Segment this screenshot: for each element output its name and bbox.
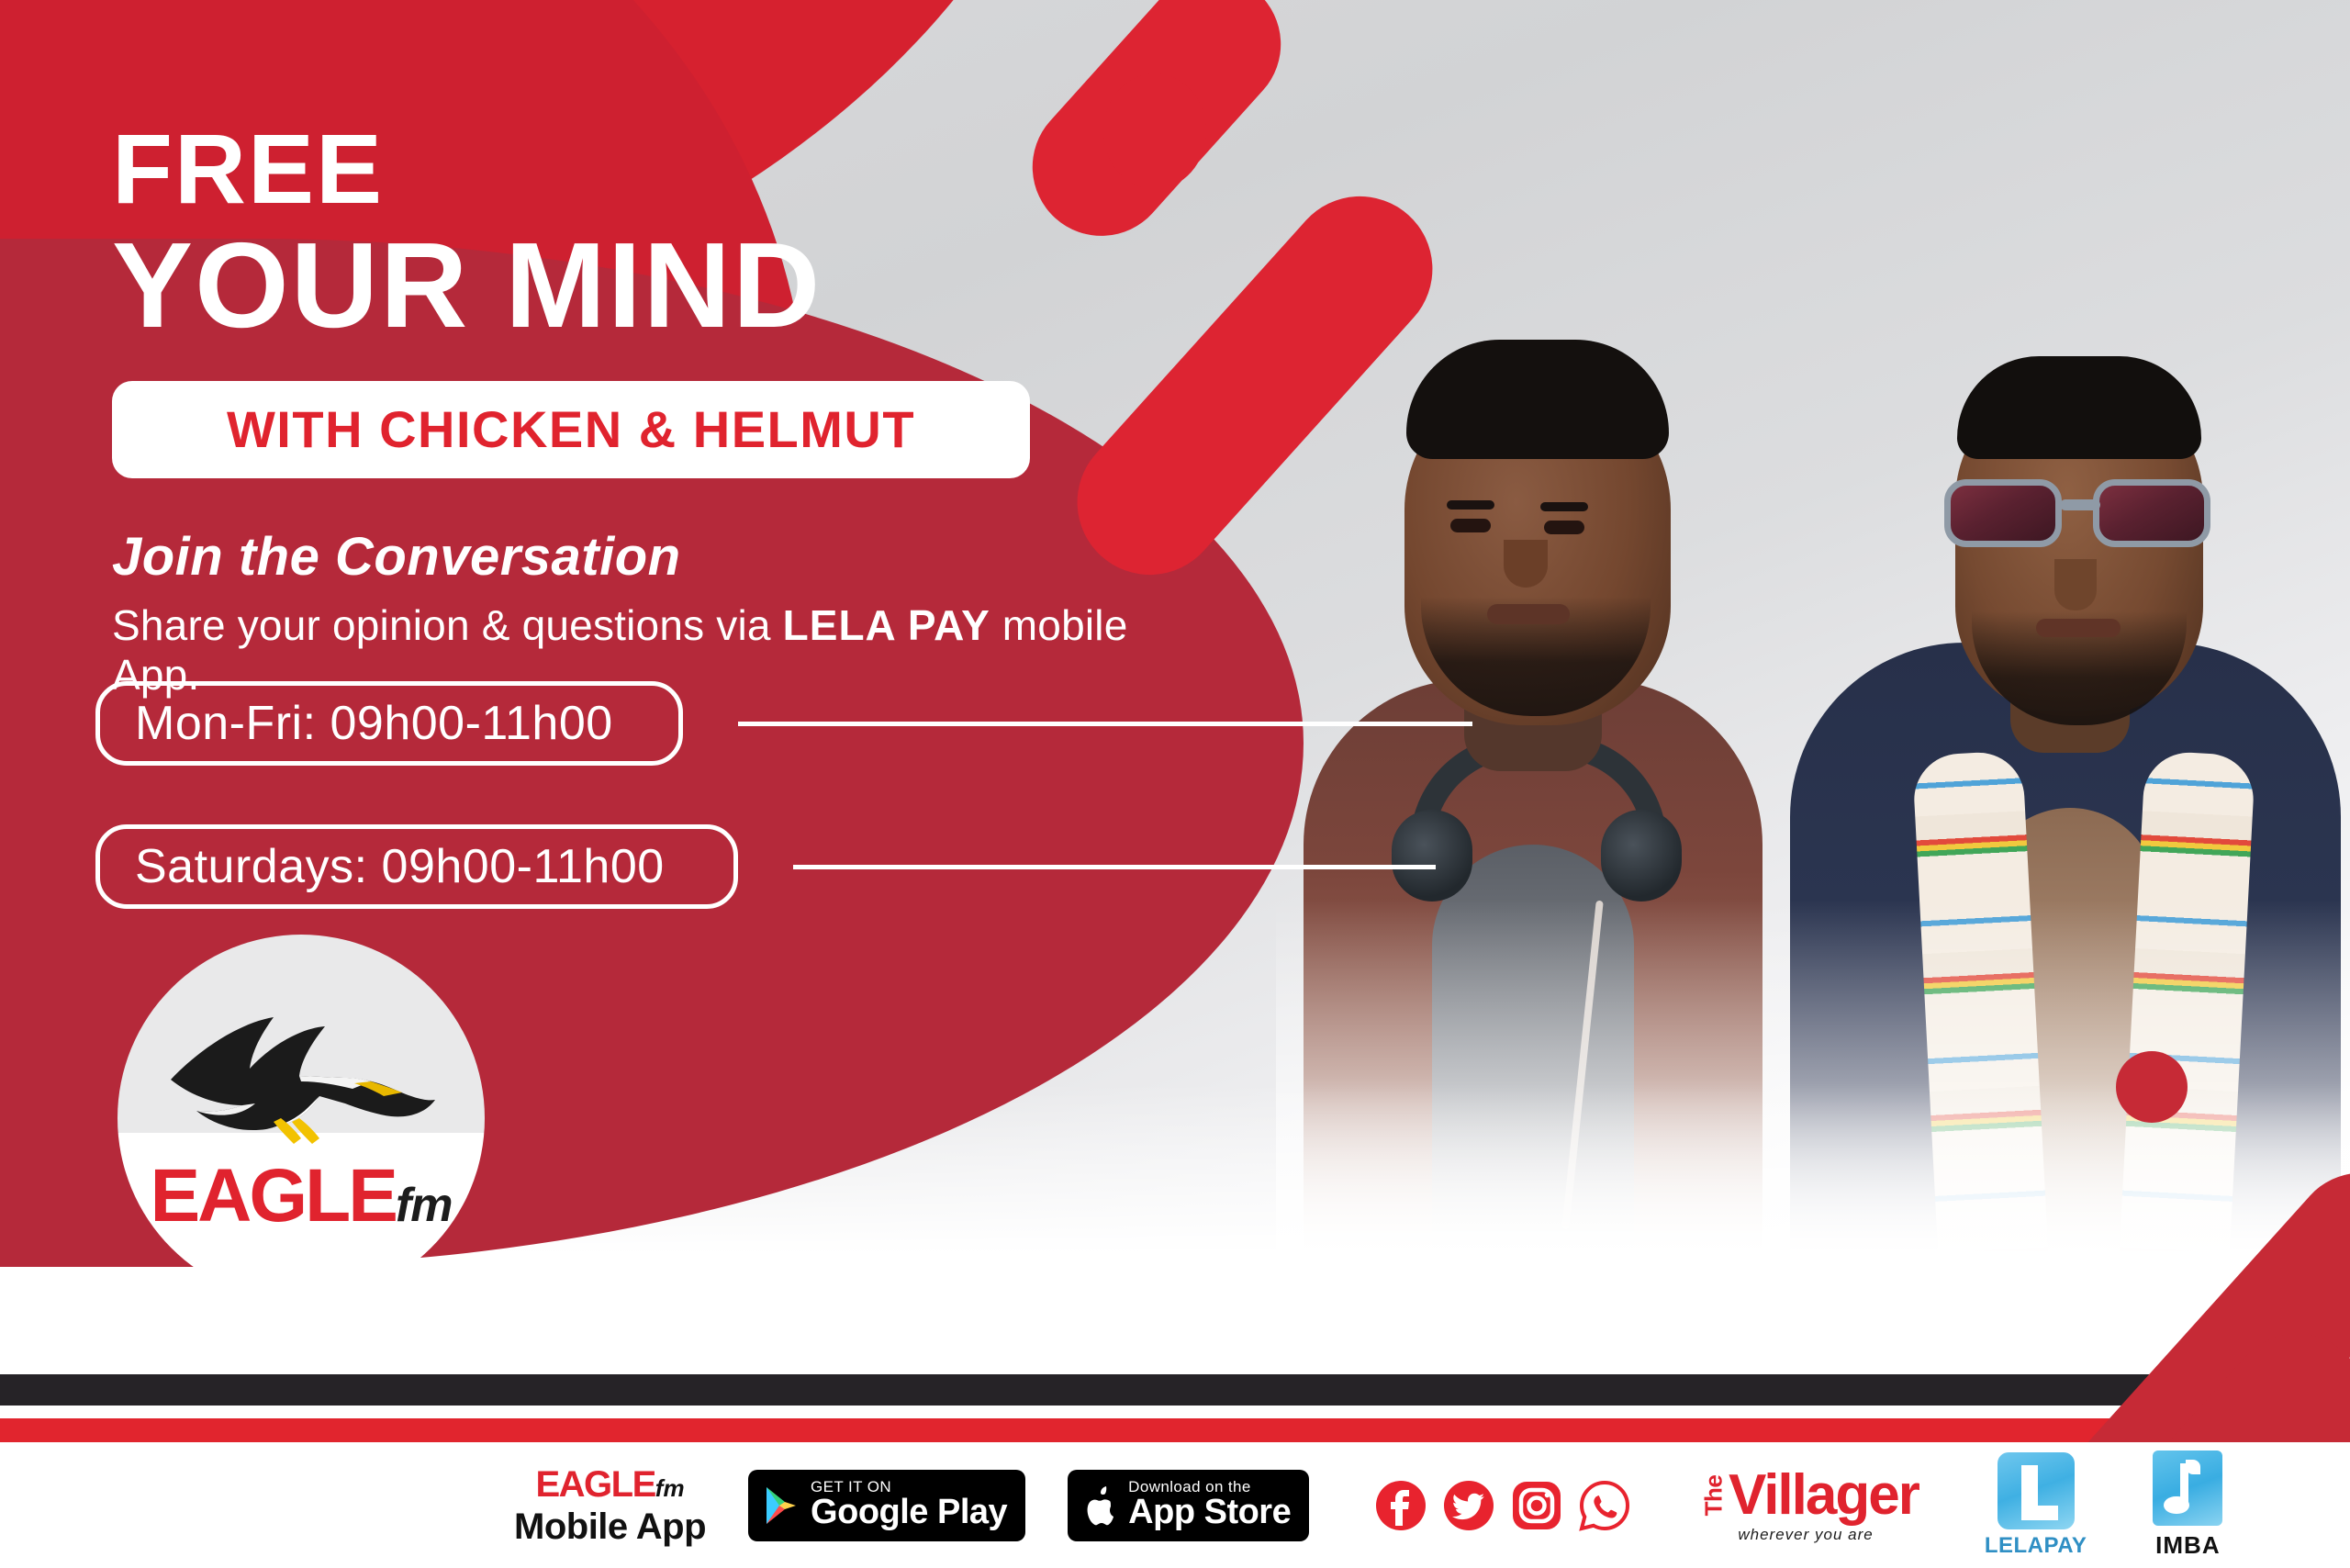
lelapay-mark [1997, 1452, 2075, 1529]
instagram-icon[interactable] [1511, 1480, 1562, 1531]
invite-body-before: Share your opinion & questions via [112, 601, 783, 649]
headline-block: FREE YOUR MIND WITH CHICKEN & HELMUT Joi… [112, 119, 1140, 700]
facebook-icon[interactable] [1375, 1480, 1427, 1531]
google-play-badge[interactable]: GET IT ON Google Play [748, 1470, 1025, 1541]
footer-eagle-suffix: fm [655, 1474, 685, 1502]
schedule-pill-saturday: Saturdays: 09h00-11h00 [95, 824, 738, 909]
headline-line-2: YOUR MIND [112, 224, 1140, 348]
google-play-icon [763, 1485, 800, 1526]
headphone-cup-right [1601, 810, 1682, 902]
lelapay-l-glyph [2021, 1465, 2038, 1506]
footer-content: EAGLEfm Mobile App GET IT ON Google Play [514, 1450, 2222, 1560]
sunglasses-lens-left [1944, 479, 2062, 547]
footer-stripe-red [0, 1418, 2350, 1442]
sunglasses-bridge [2060, 499, 2100, 510]
footer-stripe-dark [0, 1374, 2350, 1406]
eagle-word: EAGLE [150, 1154, 395, 1238]
schedule-row-saturday: Saturdays: 09h00-11h00 [95, 824, 738, 909]
invite-heading: Join the Conversation [112, 526, 1140, 588]
presenter-left-brow-right [1540, 502, 1588, 511]
lelapay-label: LELAPAY [1985, 1533, 2087, 1559]
presenter-right-nose [2054, 559, 2097, 610]
mobile-app-caption: Mobile App [514, 1508, 706, 1545]
google-play-text: GET IT ON Google Play [811, 1479, 1007, 1532]
footer-bar: EAGLEfm Mobile App GET IT ON Google Play [0, 1442, 2350, 1568]
villager-wordmark: The Villager [1693, 1467, 1919, 1524]
eagle-icon [163, 1001, 439, 1157]
social-links [1375, 1480, 1630, 1531]
hosts-pill-label: WITH CHICKEN & HELMUT [227, 399, 915, 459]
villager-main: Villager [1729, 1467, 1919, 1524]
schedule-pill-weekday: Mon-Fri: 09h00-11h00 [95, 681, 683, 766]
twitter-icon[interactable] [1443, 1480, 1494, 1531]
presenter-right-mouth [2036, 619, 2121, 637]
imba-mark [2153, 1450, 2222, 1526]
villager-tagline: wherever you are [1693, 1526, 1919, 1544]
presenter-left-nose [1504, 540, 1548, 588]
presenter-left-eye-right [1544, 521, 1584, 534]
app-store-badge[interactable]: Download on the App Store [1068, 1470, 1309, 1541]
schedule-row-weekday: Mon-Fri: 09h00-11h00 [95, 681, 683, 766]
eagle-fm-suffix: fm [396, 1179, 453, 1232]
app-store-text: Download on the App Store [1128, 1479, 1291, 1532]
app-store-big: App Store [1128, 1495, 1291, 1531]
google-play-big: Google Play [811, 1495, 1007, 1531]
schedule-label-weekday: Mon-Fri: 09h00-11h00 [135, 696, 613, 751]
the-villager-logo: The Villager wherever you are [1693, 1467, 1919, 1544]
presenter-left-hair [1406, 340, 1669, 459]
villager-the: The [1702, 1474, 1726, 1516]
schedule-line-saturday [793, 865, 1436, 869]
presenter-left-mouth [1487, 604, 1570, 624]
schedule-label-saturday: Saturdays: 09h00-11h00 [135, 839, 665, 894]
presenter-left-eye-left [1450, 519, 1491, 532]
eagle-mobile-app-logo: EAGLEfm Mobile App [514, 1466, 706, 1545]
headphone-cup-left [1392, 810, 1472, 902]
eagle-fm-wordmark: EAGLEfm [117, 1153, 485, 1239]
presenter-right-hair [1957, 356, 2201, 459]
imba-label: IMBA [2153, 1531, 2222, 1560]
music-note-icon [2180, 1463, 2188, 1502]
whatsapp-icon[interactable] [1579, 1480, 1630, 1531]
headline-line-1: FREE [112, 119, 1140, 218]
lelapay-logo: LELAPAY [1985, 1452, 2087, 1559]
poster-root: FREE YOUR MIND WITH CHICKEN & HELMUT Joi… [0, 0, 2350, 1568]
eagle-mobile-app-wordmark: EAGLEfm [514, 1466, 706, 1503]
sunglasses-icon [1944, 472, 2216, 551]
hosts-pill: WITH CHICKEN & HELMUT [112, 381, 1030, 478]
footer-eagle-word: EAGLE [535, 1464, 655, 1505]
deco-dot-bottom [2116, 1051, 2188, 1123]
sunglasses-lens-right [2093, 479, 2210, 547]
imba-logo: IMBA [2153, 1450, 2222, 1560]
schedule-line-weekday [738, 722, 1472, 726]
eagle-fm-logo: EAGLEfm [117, 935, 485, 1302]
apple-icon [1082, 1484, 1117, 1527]
presenter-left-brow-left [1447, 500, 1494, 510]
invite-body-bold: LELA PAY [783, 601, 990, 649]
